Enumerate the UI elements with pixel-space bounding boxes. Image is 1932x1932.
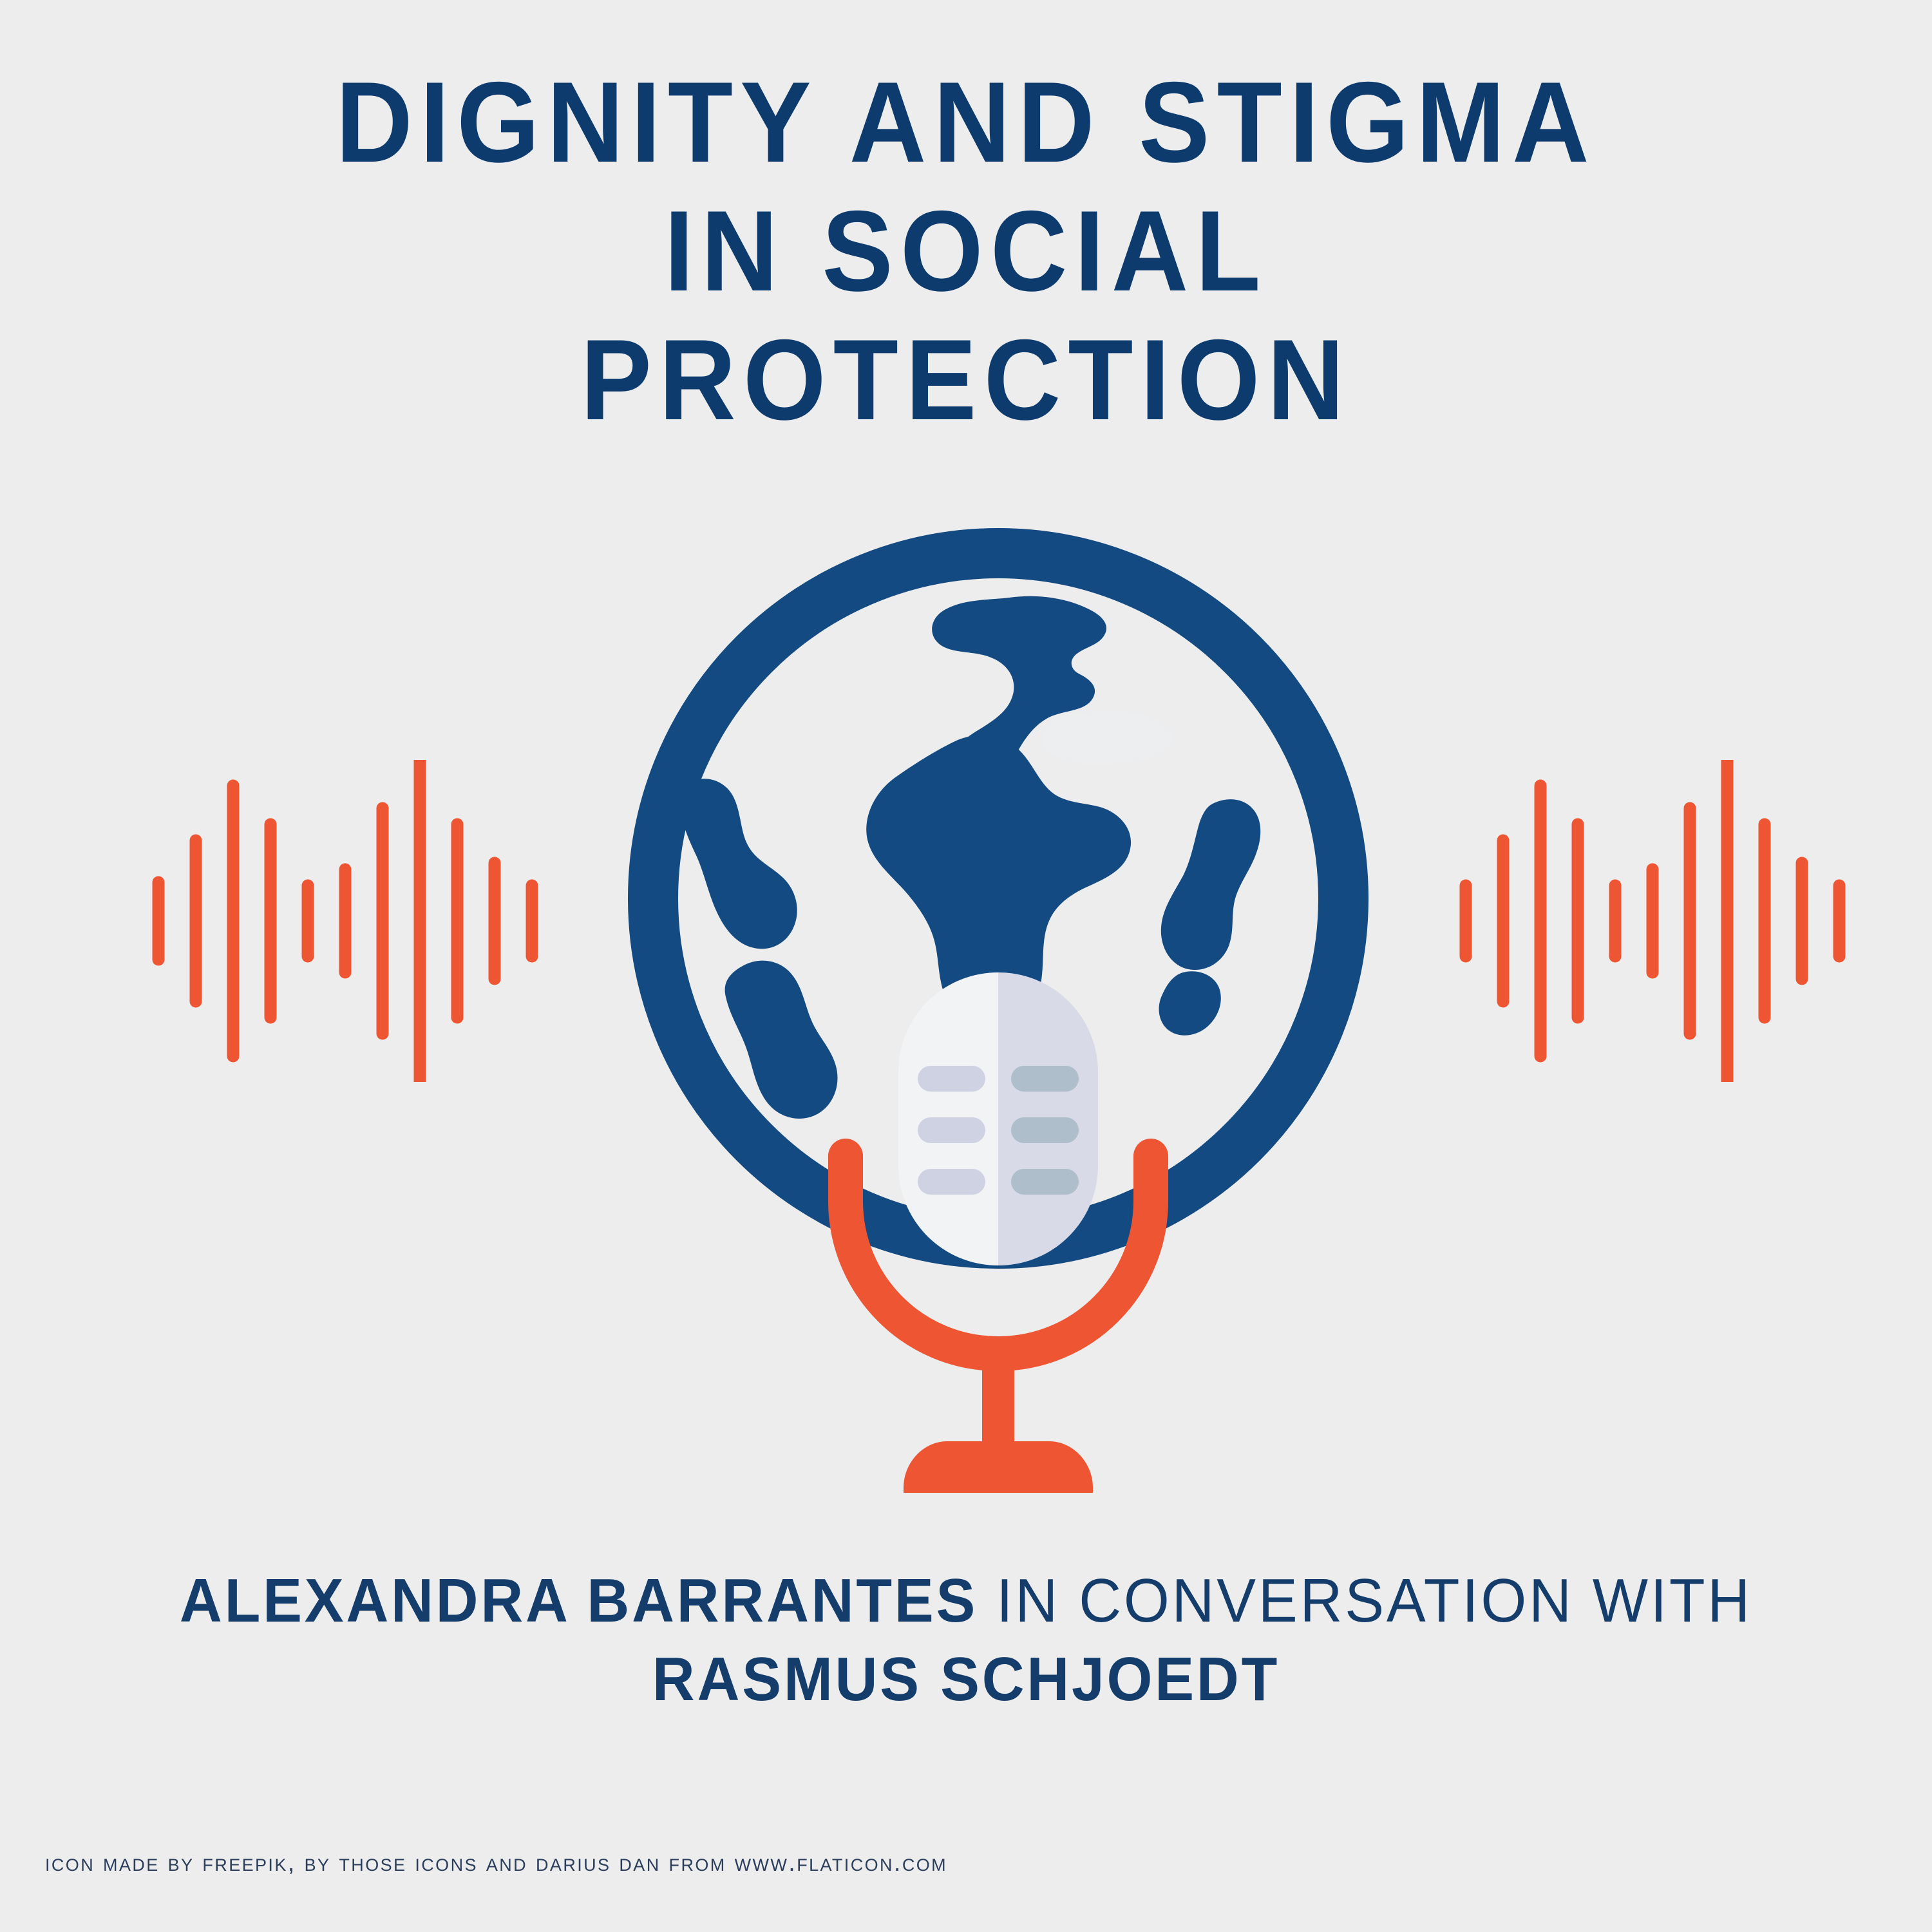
podcast-cover-art: DIGNITY AND STIGMA IN SOCIAL PROTECTION bbox=[0, 0, 1932, 1932]
credit-connector: IN CONVERSATION WITH bbox=[978, 1566, 1752, 1635]
audio-waveform-icon-right bbox=[1455, 760, 1893, 1082]
guest-name: ALEXANDRA BARRANTES bbox=[180, 1566, 978, 1635]
globe-microphone-artwork bbox=[615, 522, 1381, 1526]
page-title: DIGNITY AND STIGMA IN SOCIAL PROTECTION bbox=[0, 58, 1932, 444]
credits-block: ALEXANDRA BARRANTES IN CONVERSATION WITH… bbox=[0, 1562, 1932, 1719]
title-line-3: PROTECTION bbox=[68, 316, 1864, 444]
attribution-text: Icon made by Freepik, by Those Icons and… bbox=[45, 1850, 947, 1877]
credit-line-guest: ALEXANDRA BARRANTES IN CONVERSATION WITH bbox=[48, 1562, 1884, 1640]
host-name: RASMUS SCHJOEDT bbox=[652, 1645, 1280, 1714]
audio-waveform-icon-left bbox=[148, 760, 586, 1082]
credit-line-host: RASMUS SCHJOEDT bbox=[48, 1640, 1884, 1719]
title-line-1: DIGNITY AND STIGMA bbox=[68, 58, 1864, 187]
title-line-2: IN SOCIAL bbox=[68, 187, 1864, 316]
